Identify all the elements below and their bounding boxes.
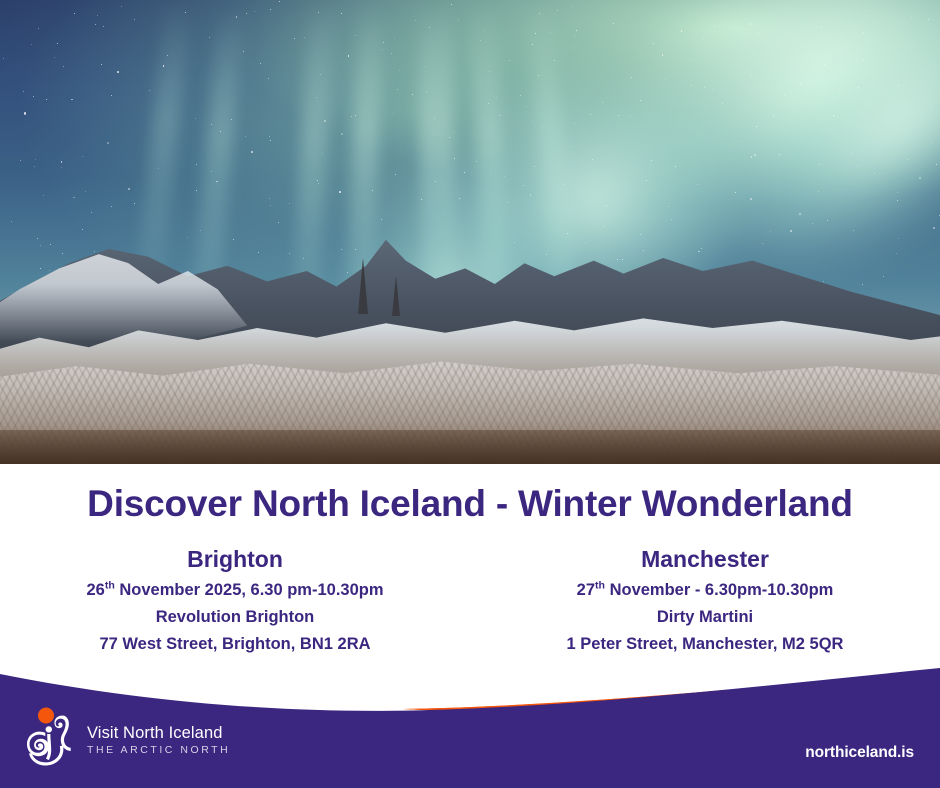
venue-place: Dirty Martini xyxy=(470,604,940,631)
orange-sun-dot xyxy=(38,708,54,724)
venue-date-rest: November 2025, 6.30 pm-10.30pm xyxy=(115,581,384,599)
venue-date-rest: November - 6.30pm-10.30pm xyxy=(605,581,833,599)
visit-north-iceland-logo-icon xyxy=(26,706,78,768)
logo-inner-stem xyxy=(46,726,52,732)
poster: Discover North Iceland - Winter Wonderla… xyxy=(0,0,940,788)
venue-date-number: 26 xyxy=(86,581,104,599)
hero-photo xyxy=(0,0,940,464)
venue-date-number: 27 xyxy=(577,581,595,599)
venue-manchester: Manchester 27th November - 6.30pm-10.30p… xyxy=(470,546,940,657)
venue-city-name: Brighton xyxy=(0,546,470,573)
venue-datetime: 26th November 2025, 6.30 pm-10.30pm xyxy=(0,577,470,604)
website-url[interactable]: northiceland.is xyxy=(805,744,914,762)
foreground-shadow xyxy=(0,430,940,464)
logo-title: Visit North Iceland xyxy=(87,725,230,742)
logo-wordmark: Visit North Iceland THE ARCTIC NORTH xyxy=(87,719,230,755)
venue-datetime: 27th November - 6.30pm-10.30pm xyxy=(470,577,940,604)
venue-date-suffix: th xyxy=(595,580,605,592)
venue-city-name: Manchester xyxy=(470,546,940,573)
venue-address: 77 West Street, Brighton, BN1 2RA xyxy=(0,631,470,658)
venue-address: 1 Peter Street, Manchester, M2 5QR xyxy=(470,631,940,658)
page-title: Discover North Iceland - Winter Wonderla… xyxy=(0,464,940,525)
venue-date-suffix: th xyxy=(105,580,115,592)
venue-place: Revolution Brighton xyxy=(0,604,470,631)
brand-logo[interactable]: Visit North Iceland THE ARCTIC NORTH xyxy=(26,706,230,768)
logo-left-spiral xyxy=(27,732,49,757)
venue-brighton: Brighton 26th November 2025, 6.30 pm-10.… xyxy=(0,546,470,657)
venue-list: Brighton 26th November 2025, 6.30 pm-10.… xyxy=(0,546,940,657)
logo-subtitle: THE ARCTIC NORTH xyxy=(87,745,230,756)
